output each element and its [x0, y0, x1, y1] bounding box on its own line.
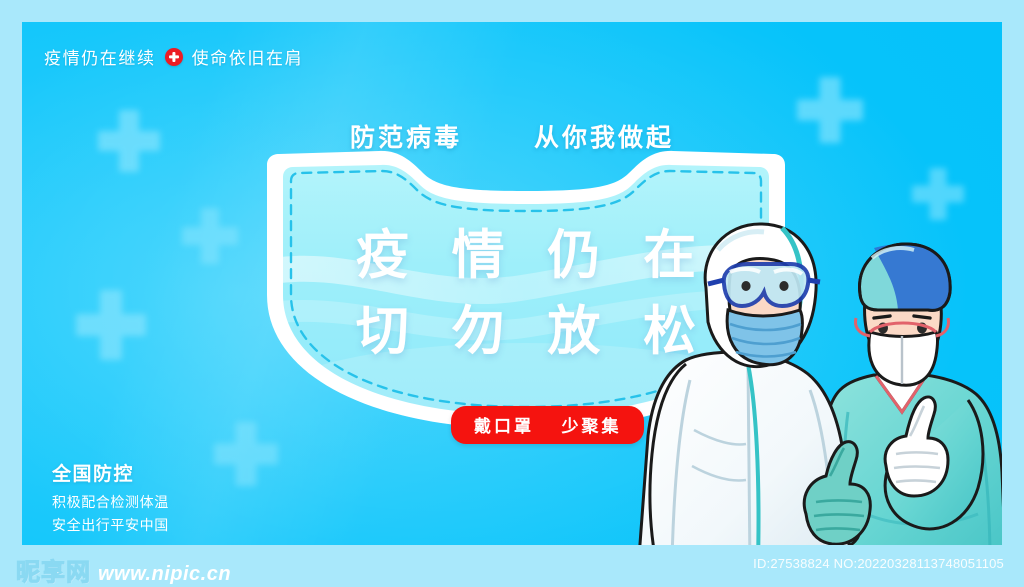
poster-canvas: 疫情仍在继续 使命依旧在肩 防范病毒 从你我做起	[0, 0, 1024, 585]
slogan-block: 全国防控 积极配合检测体温 安全出行平安中国	[52, 461, 169, 535]
badge-text-right: 少聚集	[561, 417, 621, 436]
top-banner: 疫情仍在继续 使命依旧在肩	[44, 44, 303, 69]
slogan-line-1: 积极配合检测体温	[52, 492, 169, 512]
ppe-doctor-figure	[638, 224, 870, 545]
medical-workers-illustration	[634, 214, 1002, 545]
background-cross-icon	[76, 290, 146, 360]
call-to-action-badge: 戴口罩 少聚集	[451, 406, 644, 444]
poster-artboard: 疫情仍在继续 使命依旧在肩 防范病毒 从你我做起	[22, 22, 1002, 545]
watermark-logo: 昵享网	[16, 552, 91, 587]
image-id-tag: ID:27538824 NO:20220328113748051105	[753, 556, 1004, 571]
badge-text-left: 戴口罩	[474, 417, 534, 436]
top-banner-right-text: 使命依旧在肩	[192, 44, 304, 69]
background-cross-icon	[912, 168, 964, 220]
red-cross-icon	[165, 48, 183, 66]
watermark: 昵享网 www.nipic.cn	[16, 552, 231, 587]
watermark-url: www.nipic.cn	[98, 563, 231, 586]
top-banner-left-text: 疫情仍在继续	[44, 44, 156, 69]
slogan-line-2: 安全出行平安中国	[52, 515, 169, 535]
background-cross-icon	[182, 208, 238, 264]
slogan-title: 全国防控	[52, 461, 169, 489]
